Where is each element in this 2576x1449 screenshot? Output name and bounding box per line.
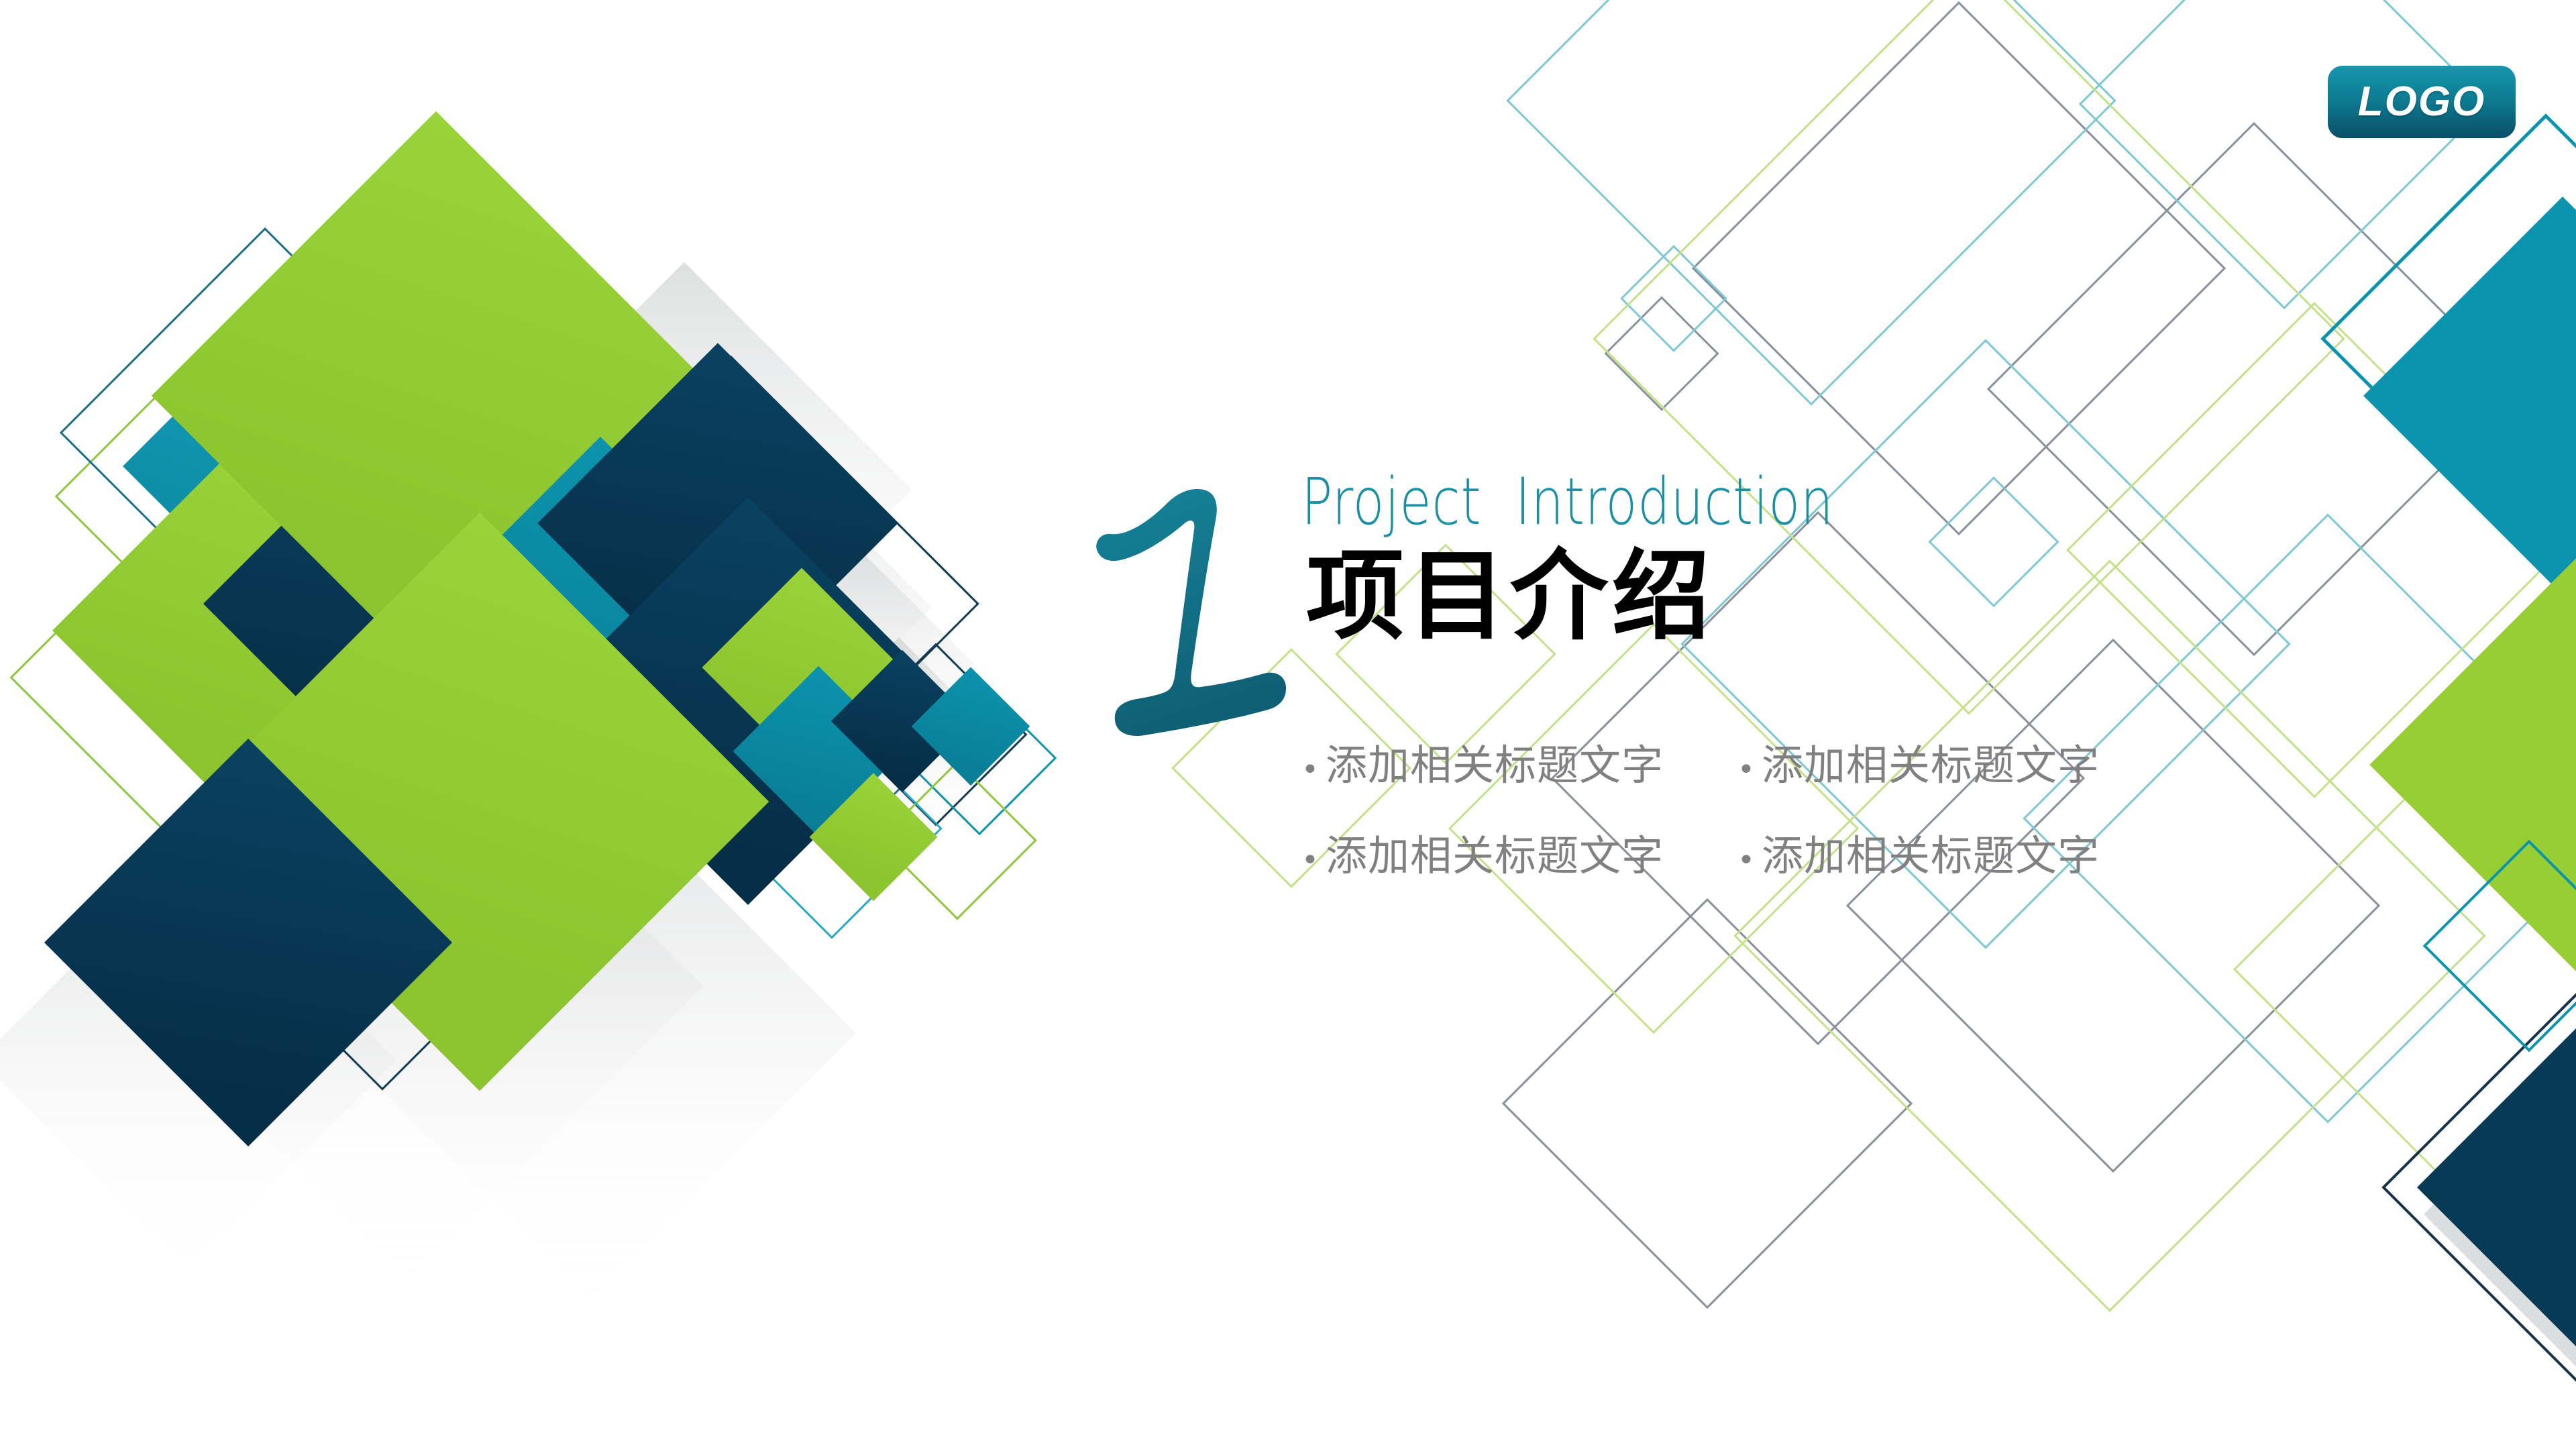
list-item-label: 添加相关标题文字 [1326,731,1664,792]
section-number-graphic [1073,476,1295,758]
list-item[interactable]: • 添加相关标题文字 [1737,822,2173,912]
bullet-dot-icon: • [1737,846,1755,875]
list-item-label: 添加相关标题文字 [1762,731,2100,792]
list-item[interactable]: • 添加相关标题文字 [1737,731,2173,822]
bullet-dot-icon: • [1737,755,1755,785]
logo-label: LOGO [2358,81,2486,123]
page-title: 项目介绍 [1306,535,1714,658]
bullet-list: • 添加相关标题文字 • 添加相关标题文字 • 添加相关标题文字 • 添加相关标… [1301,731,2173,912]
presentation-slide: LOGO Project Introduction 项目介绍 • 添加相关标题文… [0,0,2576,1449]
eyebrow-heading: Project Introduction [1301,464,1833,539]
bullet-dot-icon: • [1301,846,1319,875]
list-item[interactable]: • 添加相关标题文字 [1301,822,1737,912]
list-item-label: 添加相关标题文字 [1762,822,2100,882]
list-item[interactable]: • 添加相关标题文字 [1301,731,1737,822]
bullet-dot-icon: • [1301,755,1319,785]
slide-text-block: Project Introduction 项目介绍 • 添加相关标题文字 • 添… [1073,463,2281,932]
list-item-label: 添加相关标题文字 [1326,822,1664,882]
logo-badge[interactable]: LOGO [2328,66,2516,138]
